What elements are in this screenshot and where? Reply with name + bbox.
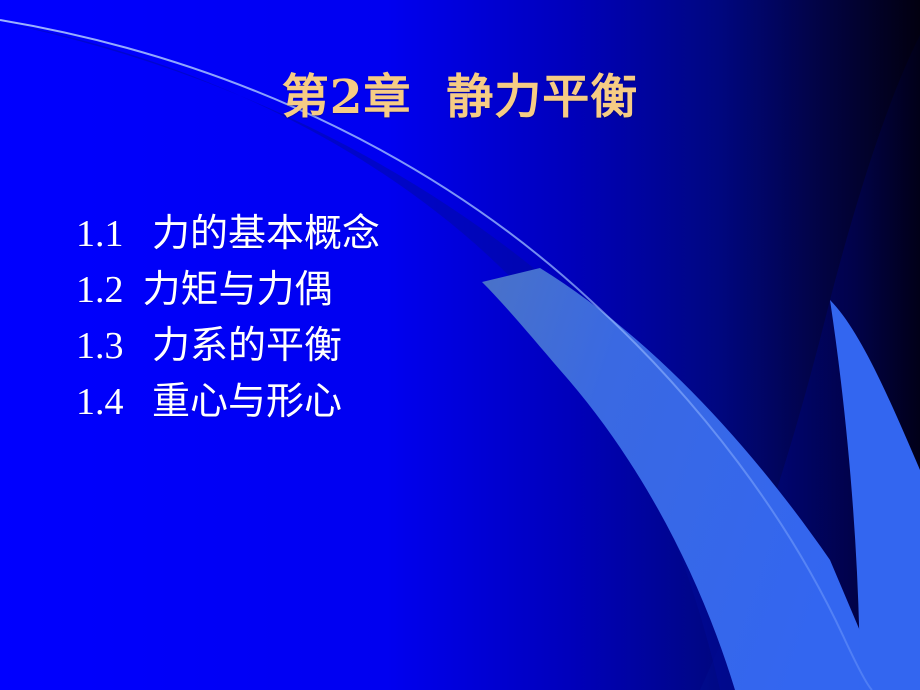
list-item: 1.1 力的基本概念 <box>76 206 776 262</box>
page-title: 第2章 静力平衡 <box>0 68 920 128</box>
list-item: 1.4 重心与形心 <box>76 374 776 430</box>
slide-content: 第2章 静力平衡 1.1 力的基本概念 1.2 力矩与力偶 1.3 力系的平衡 … <box>0 0 920 690</box>
list-item: 1.2 力矩与力偶 <box>76 262 776 318</box>
agenda-list: 1.1 力的基本概念 1.2 力矩与力偶 1.3 力系的平衡 1.4 重心与形心 <box>76 206 776 430</box>
presentation-slide: 第2章 静力平衡 1.1 力的基本概念 1.2 力矩与力偶 1.3 力系的平衡 … <box>0 0 920 690</box>
list-item: 1.3 力系的平衡 <box>76 318 776 374</box>
